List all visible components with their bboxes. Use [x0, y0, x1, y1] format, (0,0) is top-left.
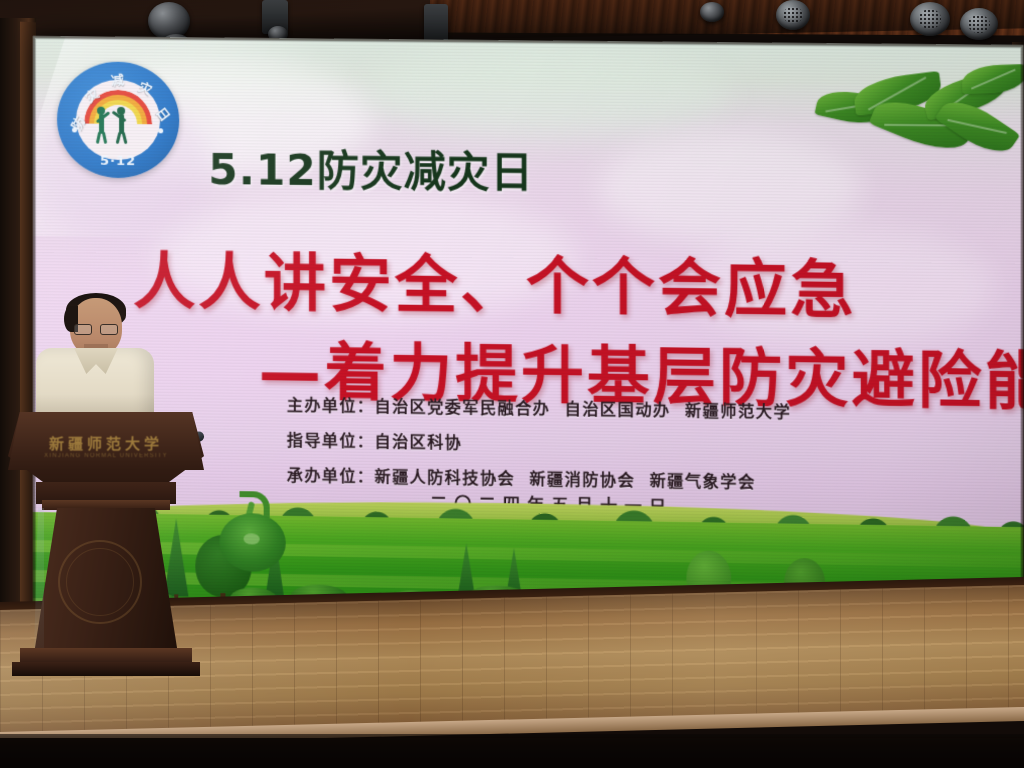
podium-logo-cn: 新疆师范大学: [42, 433, 170, 455]
credit-item: 新疆师范大学: [685, 401, 791, 422]
disaster-prevention-emblem: 防 灾 减 灾 日 5·12: [57, 61, 179, 178]
stage-photo: 防 灾 减 灾 日 5·12 5.12防灾减灾日 人人讲安全、个个会应急 —着力…: [0, 0, 1024, 768]
slide-kicker: 5.12防灾减灾日: [208, 136, 533, 201]
stage-light-icon: [910, 2, 950, 36]
podium-highlight: [34, 508, 44, 654]
emblem-dot: [72, 127, 77, 132]
credit-line-guidance: 指导单位：自治区科协: [287, 427, 896, 460]
topiary-decoration: [213, 493, 285, 572]
podium-logo-en: XINJIANG NORMAL UNIVERSITY: [42, 453, 170, 463]
credit-item: 自治区科协: [374, 432, 462, 452]
leaf-decoration: [809, 37, 1024, 191]
stage-light-icon: [700, 2, 724, 22]
glasses-icon: [74, 324, 118, 335]
foreground-shadow: [0, 734, 1024, 768]
slide-headline-line1: 人人讲安全、个个会应急: [133, 231, 857, 330]
credit-item: 自治区党委军民融合办: [374, 397, 550, 419]
topiary-crown: [219, 513, 285, 572]
credit-item: 自治区国动办: [565, 399, 671, 420]
credit-label: 指导单位：: [287, 431, 375, 451]
stage-light-icon: [960, 8, 998, 40]
emblem-dot: [158, 128, 163, 133]
emblem-date-label: 5·12: [57, 153, 179, 169]
podium-base-bottom: [12, 662, 200, 676]
stage-light-body: [424, 4, 448, 44]
credit-label: 主办单位：: [287, 396, 375, 416]
podium-seal-inner: [66, 548, 134, 616]
stage-light-icon: [776, 0, 810, 30]
lectern-podium: 新疆师范大学 XINJIANG NORMAL UNIVERSITY: [8, 412, 204, 680]
